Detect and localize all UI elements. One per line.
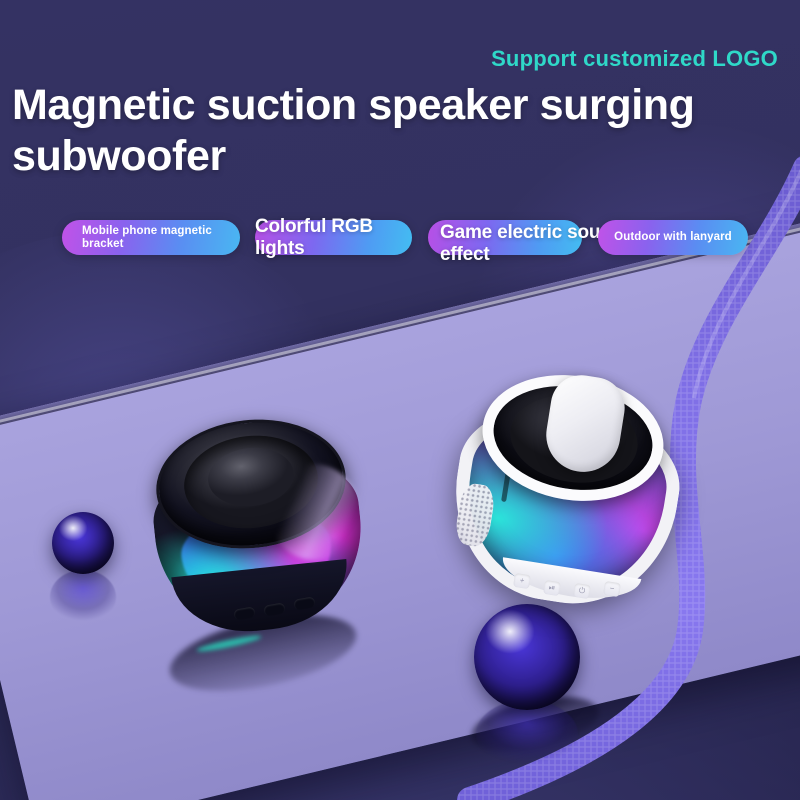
product-banner: + ⏯ ⏻ − Support customized LOGO Magnetic… [0,0,800,800]
white-speaker-button-power: ⏻ [573,583,591,599]
page-title: Magnetic suction speaker surging subwoof… [12,80,787,182]
small-sphere-reflection [50,570,116,624]
feature-pill-outdoor-with-lanyard[interactable]: Outdoor with lanyard [598,220,748,255]
white-speaker-button-minus: − [603,581,621,597]
feature-pill-label: Colorful RGB lights [255,216,412,260]
feature-pill-mobile-phone-magnetic-bracket[interactable]: Mobile phone magnetic bracket [62,220,240,255]
black-speaker [148,418,370,633]
tagline: Support customized LOGO [491,46,778,72]
feature-pill-label: Mobile phone magnetic bracket [82,225,240,251]
white-speaker: + ⏯ ⏻ − [452,372,682,620]
large-sphere-reflection [476,700,578,768]
feature-pill-label: Outdoor with lanyard [614,231,732,244]
white-speaker-button-play: ⏯ [543,580,561,596]
glass-sphere-small [52,512,114,574]
feature-pill-game-electric-sound-effect[interactable]: Game electric sound effect [428,220,582,255]
feature-pill-colorful-rgb-lights[interactable]: Colorful RGB lights [255,220,412,255]
white-speaker-button-plus: + [513,573,531,589]
